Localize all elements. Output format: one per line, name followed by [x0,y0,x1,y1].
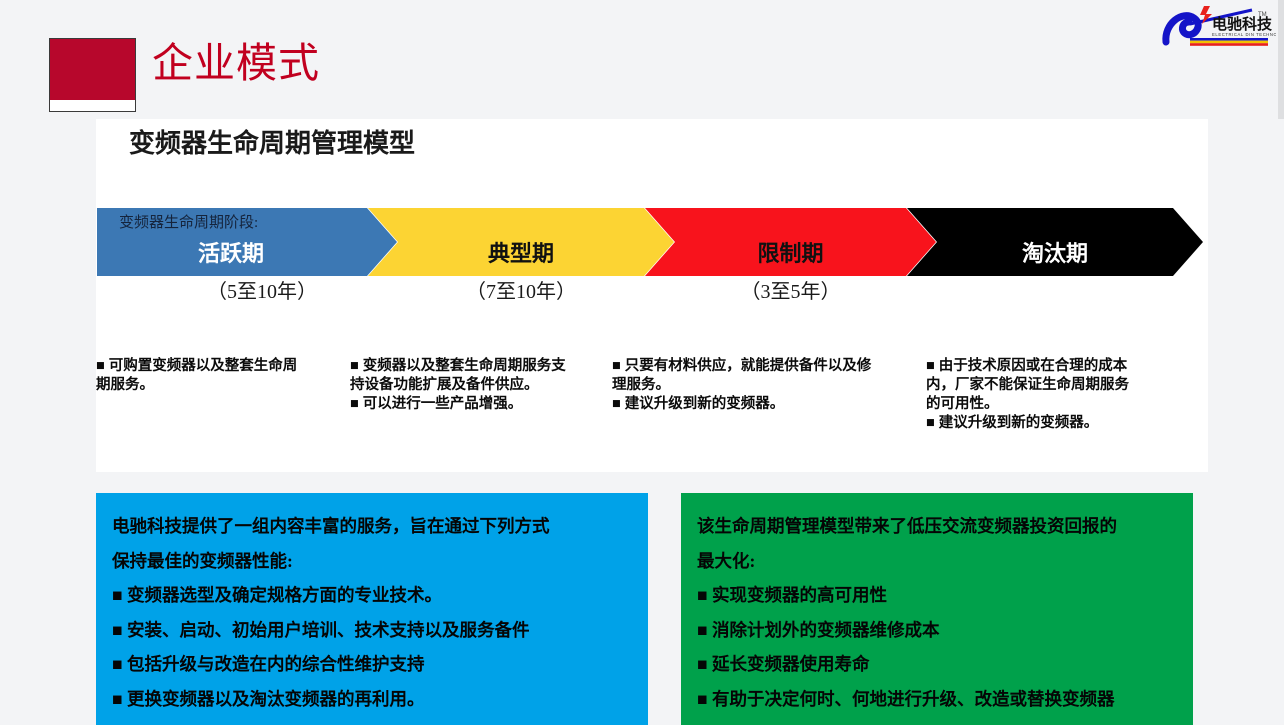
callout-bullet: 变频器选型及确定规格方面的专业技术。 [112,578,634,613]
phase-duration-active: （5至10年） [126,279,398,305]
phase-notes-typical: 变频器以及整套生命周期服务支 持设备功能扩展及备件供应。 可以进行一些产品增强。 [350,357,608,414]
note-line: 由于技术原因或在合理的成本 内，厂家不能保证生命周期服务 的可用性。 [926,357,1188,414]
phase-duration-limited: （3至5年） [645,279,936,305]
note-line: 变频器以及整套生命周期服务支 持设备功能扩展及备件供应。 [350,357,608,395]
callout-bullet: 延长变频器使用寿命 [697,647,1179,682]
page-title: 企业模式 [152,37,320,89]
callout-services-blue: 电驰科技提供了一组内容丰富的服务，旨在通过下列方式 保持最佳的变频器性能: 变频… [96,493,648,725]
note-line: 可以进行一些产品增强。 [350,395,608,414]
note-line: 建议升级到新的变频器。 [926,414,1188,433]
header-right-strip [1278,0,1284,119]
phase-notes-obsolete: 由于技术原因或在合理的成本 内，厂家不能保证生命周期服务 的可用性。 建议升级到… [926,357,1188,433]
title-swatch-fill [50,39,135,100]
phase-name-active: 活跃期 [97,240,365,268]
callout-heading: 电驰科技提供了一组内容丰富的服务，旨在通过下列方式 保持最佳的变频器性能: [112,509,634,578]
model-title: 变频器生命周期管理模型 [129,127,415,161]
svg-text:ELECTRICAL DIN TECHNOLOGY: ELECTRICAL DIN TECHNOLOGY [1212,32,1276,37]
content-panel: 变频器生命周期管理模型 变频器生命周期阶段: 活跃期 典型期 限制期 [96,119,1208,472]
lifecycle-phase-bar: 变频器生命周期阶段: 活跃期 典型期 限制期 淘汰期 [96,208,1208,276]
phase-notes-active: 可购置变频器以及整套生命周 期服务。 [96,357,340,395]
phase-name-typical: 典型期 [368,240,674,268]
phase-chevron-typical[interactable]: 典型期 [368,208,674,276]
callout-heading: 该生命周期管理模型带来了低压交流变频器投资回报的 最大化: [697,509,1179,578]
callout-benefits-green: 该生命周期管理模型带来了低压交流变频器投资回报的 最大化: 实现变频器的高可用性… [681,493,1193,725]
brand-logo: 电驰科技 TM ELECTRICAL DIN TECHNOLOGY [1160,2,1276,50]
brand-logo-graphic: 电驰科技 TM ELECTRICAL DIN TECHNOLOGY [1160,2,1276,50]
phase-chevron-active[interactable]: 变频器生命周期阶段: 活跃期 [97,208,397,276]
callout-bullet: 安装、启动、初始用户培训、技术支持以及服务备件 [112,613,634,648]
phase-duration-typical: （7至10年） [368,279,674,305]
note-line: 建议升级到新的变频器。 [612,395,912,414]
phase-stage-label: 变频器生命周期阶段: [119,213,258,233]
slide-header: 企业模式 电驰科技 TM ELECTRICAL DIN TECHNOLOGY [0,0,1284,119]
note-line: 可购置变频器以及整套生命周 期服务。 [96,357,340,395]
phase-notes-limited: 只要有材料供应，就能提供备件以及修 理服务。 建议升级到新的变频器。 [612,357,912,414]
callout-bullet: 包括升级与改造在内的综合性维护支持 [112,647,634,682]
callout-bullet: 更换变频器以及淘汰变频器的再利用。 [112,682,634,717]
callout-bullet: 实现变频器的高可用性 [697,578,1179,613]
svg-text:TM: TM [1258,12,1267,18]
callout-bullet: 消除计划外的变频器维修成本 [697,613,1179,648]
title-decoration-swatch [49,38,136,112]
phase-note-columns: 可购置变频器以及整套生命周 期服务。 变频器以及整套生命周期服务支 持设备功能扩… [96,357,1208,467]
phase-name-limited: 限制期 [645,240,936,268]
callout-bullet: 有助于决定何时、何地进行升级、改造或替换变频器 [697,682,1179,717]
phase-chevron-limited[interactable]: 限制期 [645,208,936,276]
note-line: 只要有材料供应，就能提供备件以及修 理服务。 [612,357,912,395]
phase-name-obsolete: 淘汰期 [907,240,1203,268]
phase-chevron-obsolete[interactable]: 淘汰期 [907,208,1203,276]
